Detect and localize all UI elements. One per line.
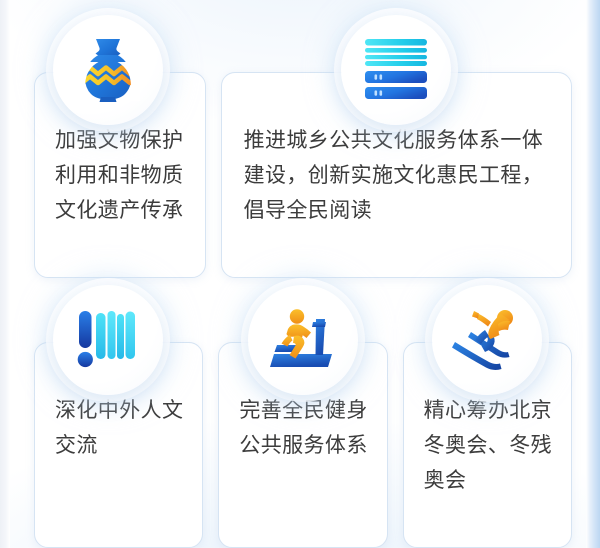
card-text: 深化中外人文 交流: [55, 393, 190, 463]
card-row-top: 加强文物保护 利用和非物质 文化遗产传承: [34, 72, 572, 278]
page-left-rail: [0, 0, 10, 548]
card-cultural-exchange[interactable]: 深化中外人文 交流: [34, 342, 203, 548]
card-text: 推进城乡公共文化服务体系一体 建设，创新实施文化惠民工程， 倡导全民阅读: [244, 123, 557, 228]
card-text: 加强文物保护 利用和非物质 文化遗产传承: [55, 123, 193, 228]
infographic-page: 加强文物保护 利用和非物质 文化遗产传承: [0, 0, 600, 548]
bamboo-scroll-exclamation-icon: [53, 285, 163, 395]
card-national-fitness[interactable]: 完善全民健身 公共服务体系: [218, 342, 387, 548]
alpine-skier-icon: [432, 285, 542, 395]
fitness-stepper-icon: [248, 285, 358, 395]
ancient-vase-icon: [53, 15, 163, 125]
library-database-icon: [341, 15, 451, 125]
card-winter-olympics[interactable]: 精心筹办北京 冬奥会、冬残 奥会: [403, 342, 572, 548]
card-cultural-relics[interactable]: 加强文物保护 利用和非物质 文化遗产传承: [34, 72, 206, 278]
card-text: 完善全民健身 公共服务体系: [239, 393, 374, 463]
page-right-rail: [586, 0, 600, 548]
card-text: 精心筹办北京 冬奥会、冬残 奥会: [424, 393, 559, 498]
card-row-bottom: 深化中外人文 交流: [34, 342, 572, 548]
card-public-culture-service[interactable]: 推进城乡公共文化服务体系一体 建设，创新实施文化惠民工程， 倡导全民阅读: [221, 72, 572, 278]
